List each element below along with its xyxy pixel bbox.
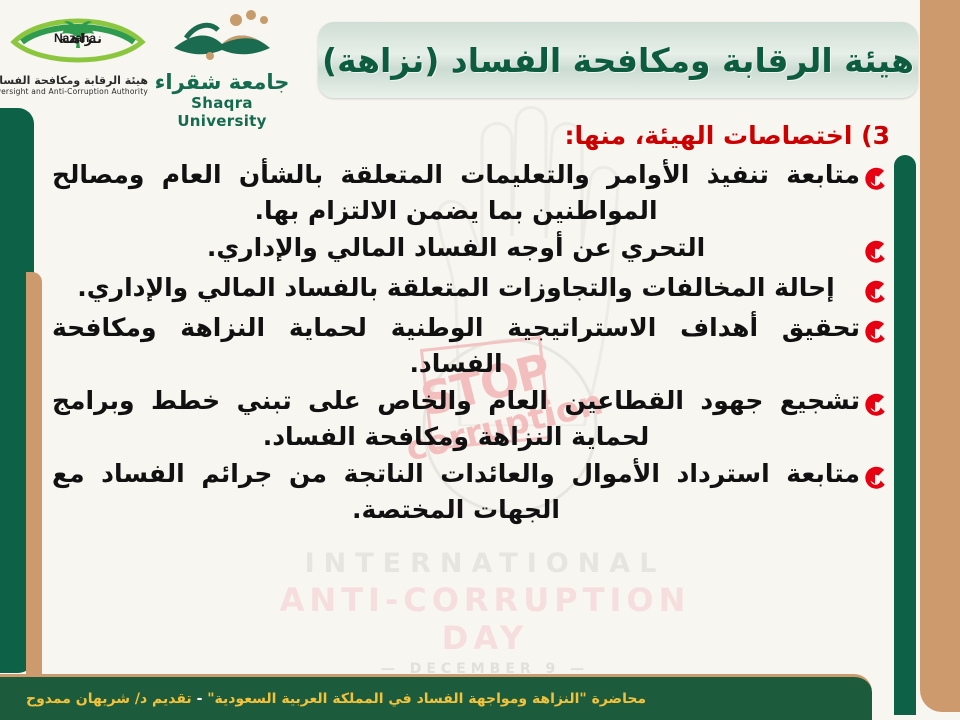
shaqra-university-logo: جامعة شقراء Shaqra University [152, 4, 292, 108]
bullet-text: تشجيع جهود القطاعين العام والخاص على تبن… [52, 383, 860, 454]
list-item: التحري عن أوجه الفساد المالي والإداري. [52, 230, 890, 268]
right-green-border [894, 155, 916, 715]
nazaha-logo: Nazaha نـزاهـة هيئة الرقابة ومكافحة الفس… [8, 8, 148, 104]
shaqra-book-icon [152, 4, 292, 66]
bullet-text: متابعة تنفيذ الأوامر والتعليمات المتعلقة… [52, 157, 860, 228]
curved-arrow-bullet-icon [860, 310, 890, 348]
curved-arrow-bullet-icon [860, 270, 890, 308]
list-item: تحقيق أهداف الاستراتيجية الوطنية لحماية … [52, 310, 890, 381]
iacd-line1: INTERNATIONAL [250, 548, 720, 579]
curved-arrow-bullet-icon [860, 383, 890, 421]
section-heading: 3) اختصاصات الهيئة، منها: [52, 120, 890, 151]
list-item: متابعة تنفيذ الأوامر والتعليمات المتعلقة… [52, 157, 890, 228]
bullet-text: متابعة استرداد الأموال والعائدات الناتجة… [52, 456, 860, 527]
nazaha-emblem-icon: Nazaha نـزاهـة [8, 8, 148, 70]
curved-arrow-bullet-icon [860, 230, 890, 268]
slide-footer: محاضرة "النزاهة ومواجهة الفساد في المملك… [0, 674, 872, 720]
footer-caption: محاضرة "النزاهة ومواجهة الفساد في المملك… [26, 691, 646, 707]
left-tan-border [26, 272, 42, 682]
bullet-text: إحالة المخالفات والتجاوزات المتعلقة بالف… [52, 270, 860, 306]
anti-corruption-day-watermark: INTERNATIONAL ANTI-CORRUPTION DAY — DECE… [250, 548, 720, 648]
slide-content: 3) اختصاصات الهيئة، منها: متابعة تنفيذ ا… [52, 120, 890, 529]
nazaha-caption-ar: هيئة الرقابة ومكافحة الفساد [8, 74, 148, 87]
list-item: متابعة استرداد الأموال والعائدات الناتجة… [52, 456, 890, 527]
curved-arrow-bullet-icon [860, 456, 890, 494]
slide-title-plate: هيئة الرقابة ومكافحة الفساد (نزاهة) [318, 22, 918, 98]
bullet-text: تحقيق أهداف الاستراتيجية الوطنية لحماية … [52, 310, 860, 381]
bullet-list: متابعة تنفيذ الأوامر والتعليمات المتعلقة… [52, 157, 890, 527]
slide-header: Nazaha نـزاهـة هيئة الرقابة ومكافحة الفس… [0, 0, 960, 112]
slide: STOP corruption INTERNATIONAL ANTI-CORRU… [0, 0, 960, 720]
list-item: إحالة المخالفات والتجاوزات المتعلقة بالف… [52, 270, 890, 308]
curved-arrow-bullet-icon [860, 157, 890, 195]
bullet-text: التحري عن أوجه الفساد المالي والإداري. [52, 230, 860, 266]
iacd-line2: ANTI-CORRUPTION DAY [250, 581, 720, 657]
footer-separator: - [192, 691, 208, 707]
shaqra-name-ar: جامعة شقراء [152, 70, 292, 94]
list-item: تشجيع جهود القطاعين العام والخاص على تبن… [52, 383, 890, 454]
footer-presenter: تقديم د/ شريهان ممدوح [26, 691, 192, 707]
slide-title: هيئة الرقابة ومكافحة الفساد (نزاهة) [322, 41, 914, 80]
nazaha-caption-en: Oversight and Anti-Corruption Authority [8, 87, 148, 96]
nazaha-wordmark-ar: نـزاهـة [59, 32, 102, 47]
footer-lecture-title: محاضرة "النزاهة ومواجهة الفساد في المملك… [207, 691, 646, 707]
